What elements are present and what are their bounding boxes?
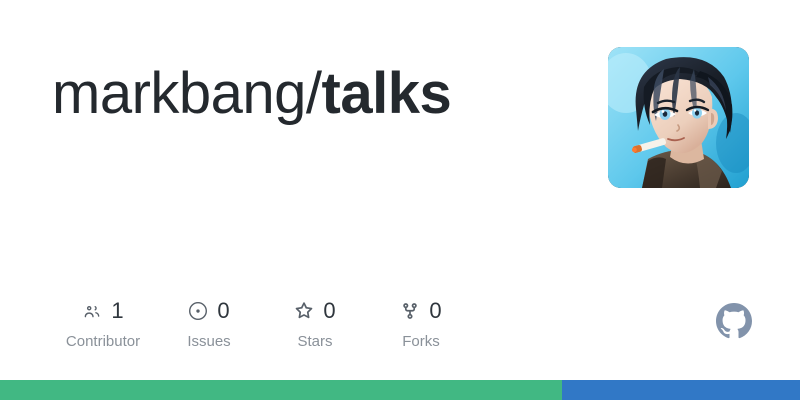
- stat-forks: 0 Forks: [368, 298, 474, 350]
- language-segment-blue: [562, 380, 800, 400]
- stat-value: 0: [323, 300, 335, 322]
- github-mark-icon: [716, 303, 752, 339]
- stat-top: 0: [188, 298, 229, 324]
- repo-forked-icon: [400, 301, 420, 321]
- repo-separator: /: [306, 61, 322, 126]
- stat-top: 0: [400, 298, 441, 324]
- avatar: [608, 47, 749, 188]
- stat-stars: 0 Stars: [262, 298, 368, 350]
- stat-contributors: 1 Contributor: [50, 298, 156, 350]
- language-segment-green: [0, 380, 562, 400]
- issue-opened-icon: [188, 301, 208, 321]
- stat-label: Contributor: [66, 333, 140, 350]
- stat-issues: 0 Issues: [156, 298, 262, 350]
- repository-social-preview-card: markbang/talks: [0, 0, 800, 400]
- repository-stats: 1 Contributor 0 Issues: [50, 298, 474, 350]
- stat-value: 0: [429, 300, 441, 322]
- people-icon: [82, 301, 102, 321]
- stat-label: Issues: [187, 333, 230, 350]
- page-title: markbang/talks: [52, 58, 451, 130]
- stat-top: 0: [294, 298, 335, 324]
- stat-label: Stars: [297, 333, 332, 350]
- stat-label: Forks: [402, 333, 440, 350]
- language-bar: [0, 380, 800, 400]
- repo-name: talks: [322, 61, 452, 126]
- repo-owner: markbang: [52, 61, 306, 126]
- star-icon: [294, 301, 314, 321]
- stat-value: 0: [217, 300, 229, 322]
- stat-top: 1: [82, 298, 123, 324]
- stat-value: 1: [111, 300, 123, 322]
